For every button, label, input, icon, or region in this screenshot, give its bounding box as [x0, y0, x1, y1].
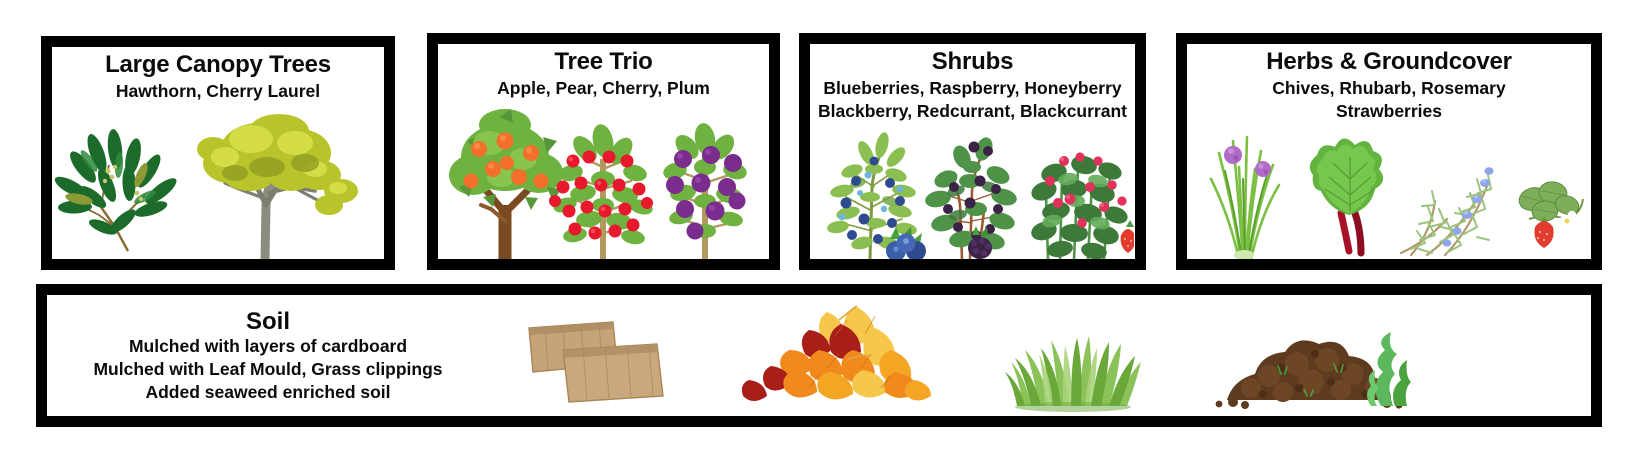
cherry-tree	[549, 122, 654, 259]
panel-large-canopy-trees: Large Canopy Trees Hawthorn, Cherry Laur…	[41, 36, 395, 270]
panel-artwork	[52, 109, 384, 259]
panel-subtitle-line: Hawthorn, Cherry Laurel	[52, 80, 384, 102]
panel-header: Large Canopy Trees Hawthorn, Cherry Laur…	[52, 47, 384, 102]
canopy-trees-illustration	[53, 109, 383, 259]
panel-header: Tree Trio Apple, Pear, Cherry, Plum	[438, 44, 769, 99]
berry-shrubs-illustration	[812, 131, 1134, 259]
panel-shrubs: Shrubs Blueberries, Raspberry, Honeyberr…	[799, 33, 1146, 270]
herbs-illustration	[1189, 123, 1589, 259]
panel-soil: Soil Mulched with layers of cardboard Mu…	[36, 284, 1602, 427]
panel-subtitle-line: Chives, Rhubarb, Rosemary	[1187, 77, 1591, 99]
soil-line: Mulched with Leaf Mould, Grass clippings	[53, 358, 483, 381]
panel-subtitle-line: Blueberries, Raspberry, Honeyberry	[810, 77, 1135, 99]
leaf-pile	[742, 306, 931, 401]
strawberry-fruit	[1534, 216, 1553, 248]
soil-title: Soil	[53, 308, 483, 336]
plum-tree	[661, 122, 748, 259]
soil-line: Mulched with layers of cardboard	[53, 335, 483, 358]
poster-board: Large Canopy Trees Hawthorn, Cherry Laur…	[0, 0, 1638, 470]
rhubarb-plant	[1310, 138, 1383, 253]
autumn-leaf-pile-illustration	[735, 302, 935, 412]
panel-header: Shrubs Blueberries, Raspberry, Honeyberr…	[810, 44, 1135, 123]
panel-herbs-groundcover: Herbs & Groundcover Chives, Rhubarb, Ros…	[1176, 33, 1602, 270]
seaweed	[1367, 332, 1411, 406]
panel-artwork	[438, 101, 769, 259]
soil-mound	[1216, 340, 1403, 409]
chives-plant	[1211, 137, 1279, 259]
strawberry-plant	[1516, 180, 1583, 248]
panel-artwork	[1187, 119, 1591, 259]
fruit-trees-illustration	[443, 101, 765, 259]
panel-title: Large Canopy Trees	[52, 52, 384, 79]
soil-artwork	[483, 291, 1591, 420]
blackberry-bush	[923, 135, 1018, 259]
soil-line: Added seaweed enriched soil	[53, 381, 483, 404]
cardboard-sheets-illustration	[517, 302, 677, 412]
grass-clippings-illustration	[993, 302, 1153, 412]
cardboard-sheet-front	[563, 344, 663, 402]
strawberry-accent	[1120, 220, 1133, 253]
panel-tree-trio: Tree Trio Apple, Pear, Cherry, Plum	[427, 33, 780, 270]
panel-subtitle-line: Apple, Pear, Cherry, Plum	[438, 77, 769, 99]
soil-text-block: Soil Mulched with layers of cardboard Mu…	[47, 308, 483, 404]
raspberry-bush	[1028, 152, 1129, 259]
panel-title: Shrubs	[810, 49, 1135, 76]
panel-title: Tree Trio	[438, 49, 769, 76]
rosemary-sprigs	[1401, 167, 1494, 255]
grass-tuft	[1005, 336, 1141, 412]
blueberry-bush	[826, 131, 926, 259]
apple-tree	[449, 109, 563, 259]
panel-title: Herbs & Groundcover	[1187, 49, 1591, 76]
cherry-laurel-branch	[53, 128, 180, 251]
panel-header: Herbs & Groundcover Chives, Rhubarb, Ros…	[1187, 44, 1591, 123]
seaweed-compost-illustration	[1211, 302, 1411, 412]
panel-artwork	[810, 119, 1135, 259]
hawthorn-tree	[197, 114, 358, 259]
